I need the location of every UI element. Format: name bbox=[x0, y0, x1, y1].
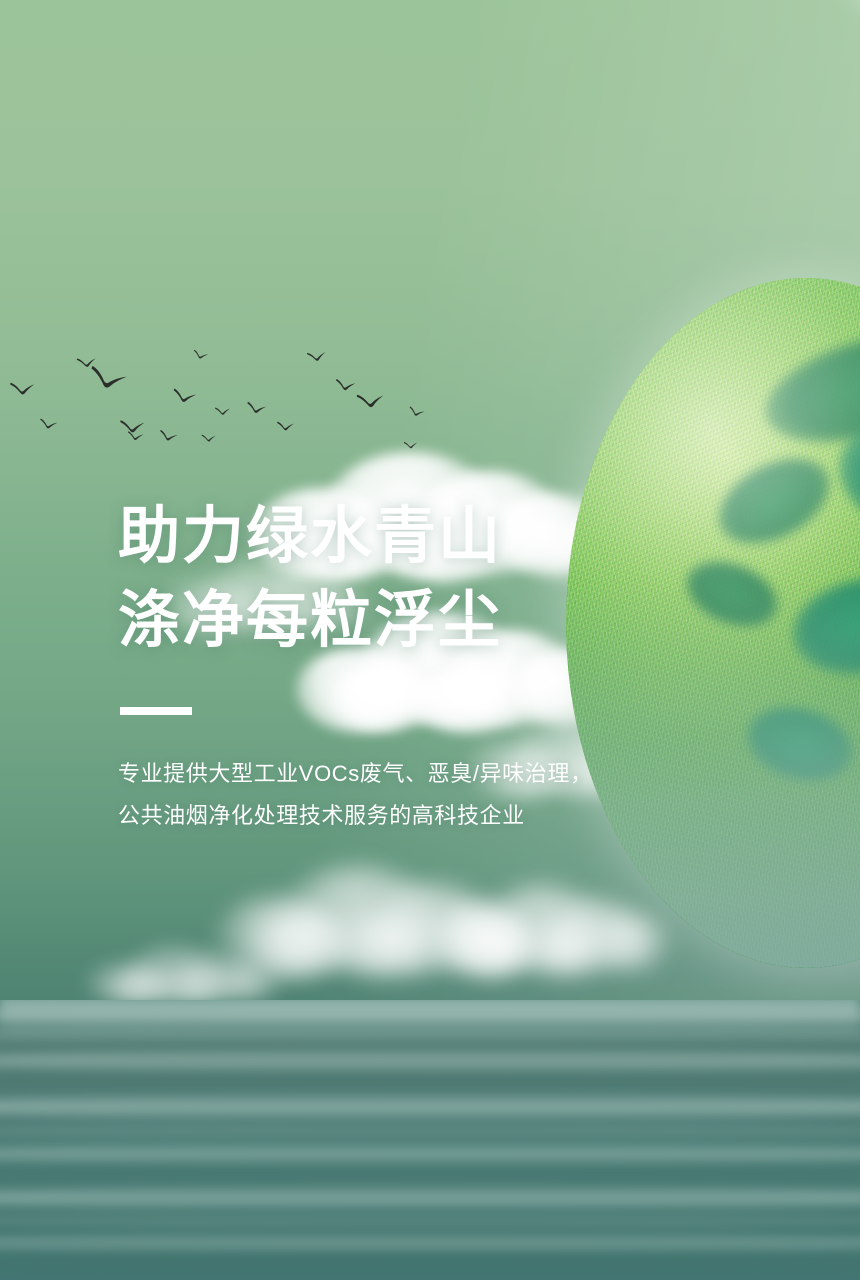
subtitle-line-2: 公共油烟净化处理技术服务的高科技企业 bbox=[118, 795, 738, 837]
headline-block: 助力绿水青山 涤净每粒浮尘 专业提供大型工业VOCs废气、恶臭/异味治理， 公共… bbox=[118, 495, 738, 837]
headline-line-2: 涤净每粒浮尘 bbox=[118, 579, 738, 663]
wave-band-11 bbox=[0, 1232, 860, 1254]
wave-band-10 bbox=[0, 1212, 860, 1230]
headline-line-1: 助力绿水青山 bbox=[118, 495, 738, 579]
wave-band-7 bbox=[0, 1142, 860, 1166]
wave-band-2 bbox=[0, 1026, 860, 1042]
divider-rule bbox=[120, 707, 192, 715]
water-surface bbox=[0, 1000, 860, 1280]
wave-band-9 bbox=[0, 1184, 860, 1212]
wave-band-8 bbox=[0, 1166, 860, 1182]
wave-band-6 bbox=[0, 1122, 860, 1140]
wave-band-1 bbox=[0, 1004, 860, 1026]
wave-band-4 bbox=[0, 1074, 860, 1088]
wave-band-3 bbox=[0, 1048, 860, 1074]
wave-band-12 bbox=[0, 1256, 860, 1272]
wave-band-5 bbox=[0, 1092, 860, 1122]
promo-banner: 助力绿水青山 涤净每粒浮尘 专业提供大型工业VOCs废气、恶臭/异味治理， 公共… bbox=[0, 0, 860, 1280]
subtitle-line-1: 专业提供大型工业VOCs废气、恶臭/异味治理， bbox=[118, 753, 738, 795]
